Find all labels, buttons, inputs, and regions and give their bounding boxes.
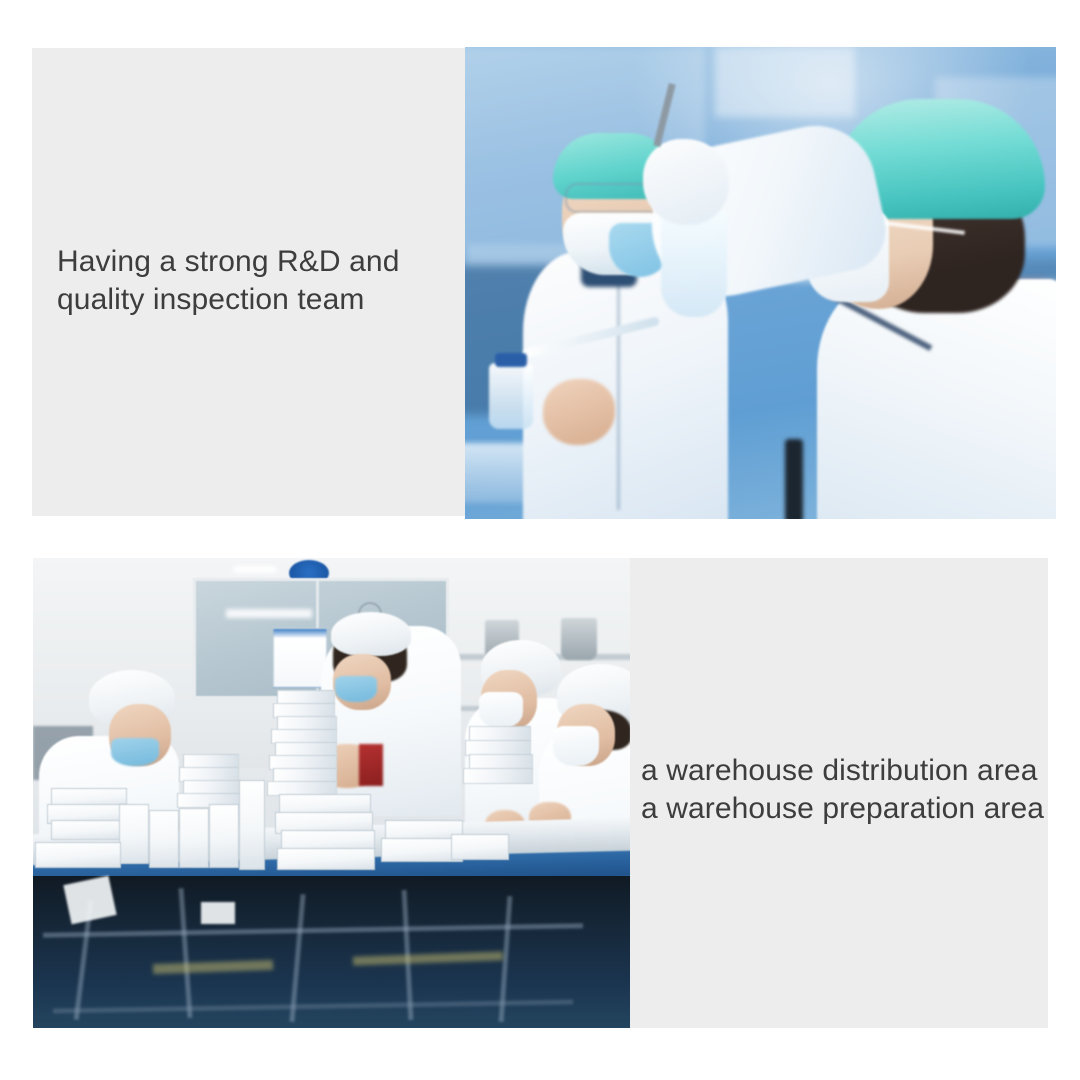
rd-caption-line-2: quality inspection team [57, 281, 457, 319]
warehouse-caption-line-2: a warehouse preparation area [641, 790, 1041, 828]
warehouse-caption-text: a warehouse distribution area a warehous… [641, 752, 1041, 828]
rd-caption-text: Having a strong R&D and quality inspecti… [57, 243, 457, 319]
lab-quality-inspection-photo [465, 47, 1056, 519]
warehouse-packing-photo [33, 558, 630, 1028]
rd-caption-line-1: Having a strong R&D and [57, 243, 457, 281]
poster-canvas: Having a strong R&D and quality inspecti… [0, 0, 1080, 1080]
warehouse-caption-line-1: a warehouse distribution area [641, 752, 1041, 790]
